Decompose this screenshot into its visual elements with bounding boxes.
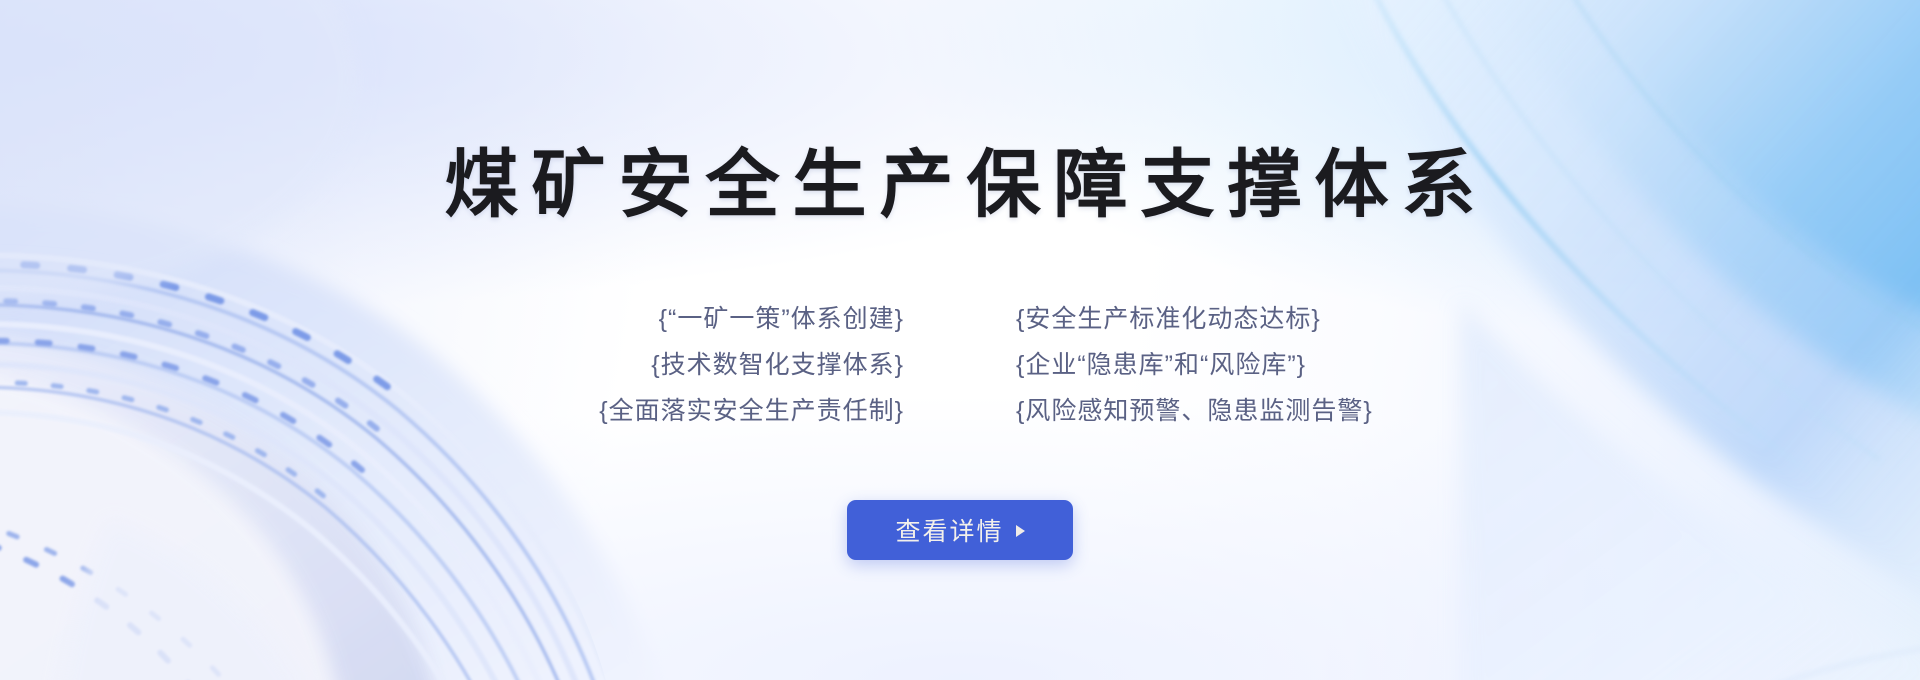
feature-tag-grid: {“一矿一策”体系创建} {安全生产标准化动态达标} {技术数智化支撑体系} {… <box>500 296 1420 434</box>
feature-tag: {风险感知预警、隐患监测告警} <box>990 388 1420 434</box>
feature-tag: {“一矿一策”体系创建} <box>500 296 930 342</box>
view-details-label: 查看详情 <box>895 512 1003 548</box>
feature-tag: {技术数智化支撑体系} <box>500 342 930 388</box>
feature-tag: {安全生产标准化动态达标} <box>990 296 1420 342</box>
view-details-button[interactable]: 查看详情 <box>847 500 1073 560</box>
feature-tag: {企业“隐患库”和“风险库”} <box>990 342 1420 388</box>
feature-tag: {全面落实安全生产责任制} <box>500 388 930 434</box>
banner-content: 煤矿安全生产保障支撑体系 {“一矿一策”体系创建} {安全生产标准化动态达标} … <box>0 0 1920 680</box>
cta-container: 查看详情 <box>847 500 1073 560</box>
triangle-right-icon <box>1016 525 1025 537</box>
page-title: 煤矿安全生产保障支撑体系 <box>432 142 1489 228</box>
hero-banner: 煤矿安全生产保障支撑体系 {“一矿一策”体系创建} {安全生产标准化动态达标} … <box>0 0 1920 680</box>
